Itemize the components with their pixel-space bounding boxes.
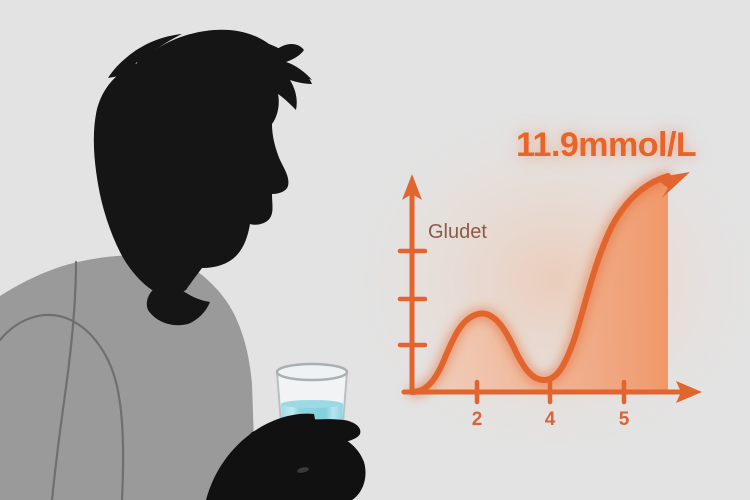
curve-area-fill — [412, 176, 668, 392]
glucose-value-readout: 11.9mmol/L — [516, 126, 696, 165]
y-axis-label: Gludet — [428, 221, 487, 244]
x-tick-label-2: 2 — [472, 409, 483, 431]
illustration-canvas: 11.9mmol/L Gludet 2 4 5 — [0, 0, 750, 500]
x-tick-label-5: 5 — [619, 409, 630, 431]
x-tick-label-4: 4 — [545, 409, 556, 431]
glucose-chart — [0, 0, 750, 500]
